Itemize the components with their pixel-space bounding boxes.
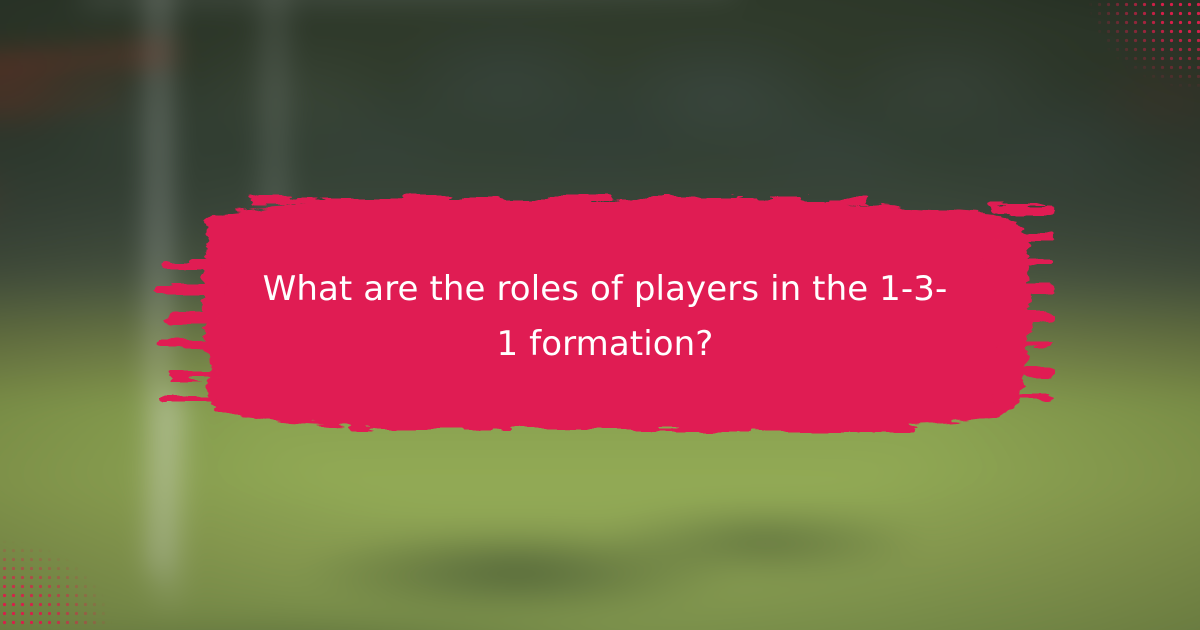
banner: What are the roles of players in the 1-3… — [150, 190, 1055, 440]
banner-heading: What are the roles of players in the 1-3… — [255, 262, 955, 372]
halftone-dots-top-right — [1050, 0, 1200, 120]
halftone-dots-bottom-left — [0, 510, 150, 630]
share-card: What are the roles of players in the 1-3… — [0, 0, 1200, 630]
